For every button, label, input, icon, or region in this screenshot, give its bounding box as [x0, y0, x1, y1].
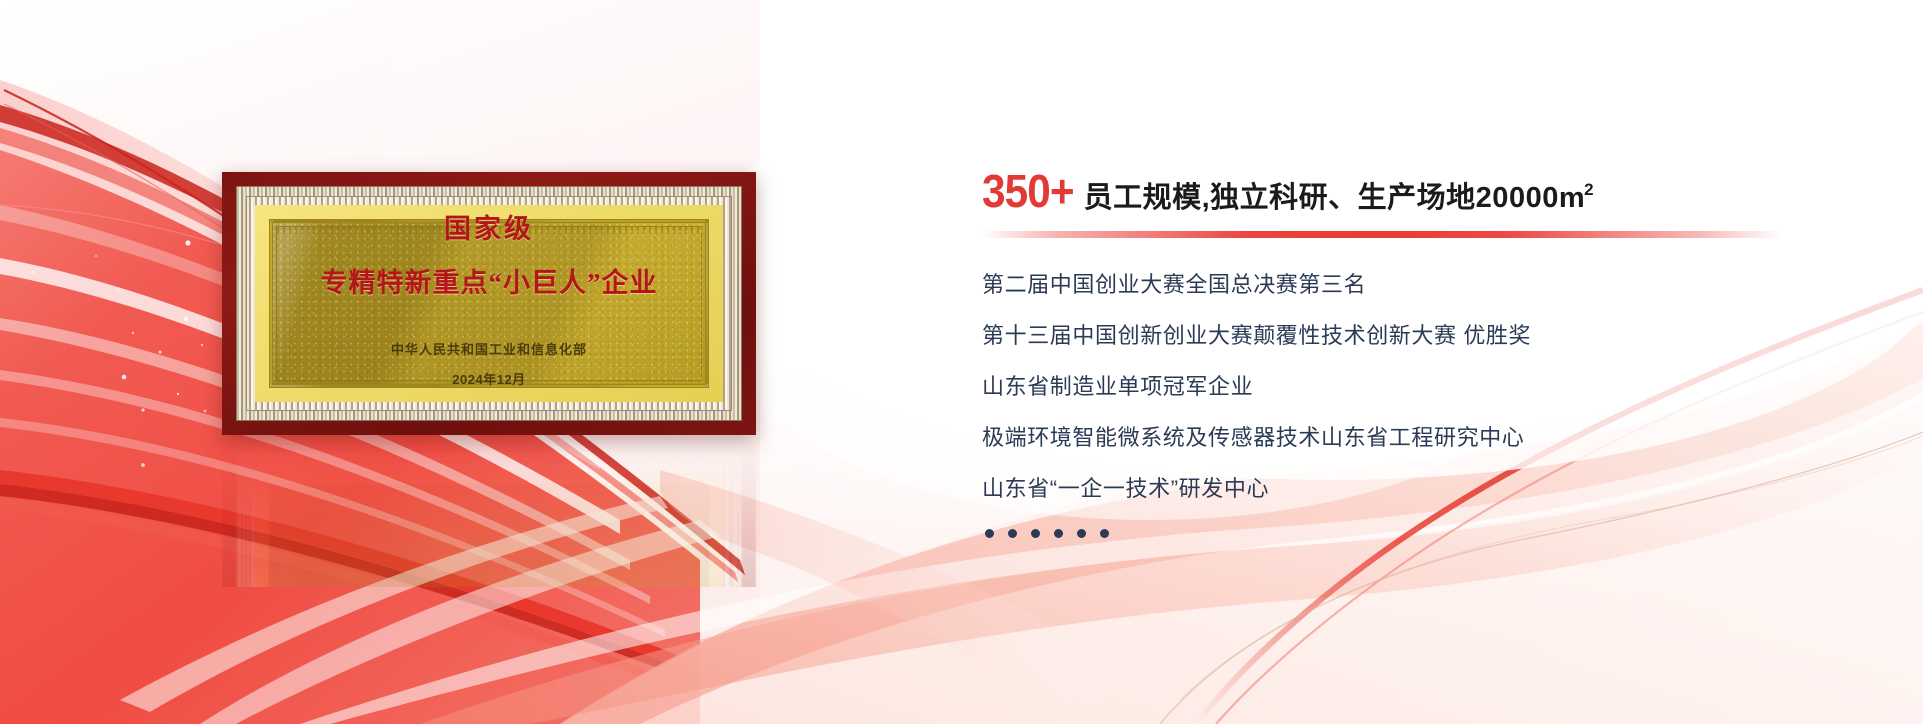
banner-stage: 国家级 专精特新重点“小巨人”企业 中华人民共和国工业和信息化部 2024年12… — [0, 0, 1923, 724]
ellipsis-dots — [985, 529, 1842, 538]
ellipsis-dot — [1031, 529, 1040, 538]
achievement-list: 第二届中国创业大赛全国总决赛第三名 第十三届中国创新创业大赛颠覆性技术创新大赛 … — [982, 274, 1842, 538]
headline-superscript: 2 — [1584, 180, 1593, 200]
award-plaque: 国家级 专精特新重点“小巨人”企业 中华人民共和国工业和信息化部 2024年12… — [222, 172, 756, 435]
ellipsis-dot — [1100, 529, 1109, 538]
content-panel: 350+ 员工规模,独立科研、生产场地20000m 2 第二届中国创业大赛全国总… — [982, 168, 1842, 538]
plaque-issuer: 中华人民共和国工业和信息化部 — [391, 339, 587, 358]
list-item: 第十三届中国创新创业大赛颠覆性技术创新大赛 优胜奖 — [982, 325, 1842, 347]
headline: 350+ 员工规模,独立科研、生产场地20000m 2 — [982, 168, 1842, 214]
plaque-title: 国家级 — [444, 207, 534, 246]
ellipsis-dot — [985, 529, 994, 538]
ellipsis-dot — [1008, 529, 1017, 538]
ellipsis-dot — [1077, 529, 1086, 538]
headline-underline — [982, 231, 1782, 238]
plaque-subtitle: 专精特新重点“小巨人”企业 — [321, 261, 658, 300]
headline-text: 员工规模,独立科研、生产场地20000m — [1084, 184, 1586, 213]
plaque-date: 2024年12月 — [452, 369, 525, 388]
list-item: 极端环境智能微系统及传感器技术山东省工程研究中心 — [982, 427, 1842, 449]
ellipsis-dot — [1054, 529, 1063, 538]
list-item: 山东省“一企一技术”研发中心 — [982, 478, 1842, 500]
headline-number: 350+ — [982, 168, 1074, 214]
list-item: 山东省制造业单项冠军企业 — [982, 376, 1842, 398]
list-item: 第二届中国创业大赛全国总决赛第三名 — [982, 274, 1842, 296]
